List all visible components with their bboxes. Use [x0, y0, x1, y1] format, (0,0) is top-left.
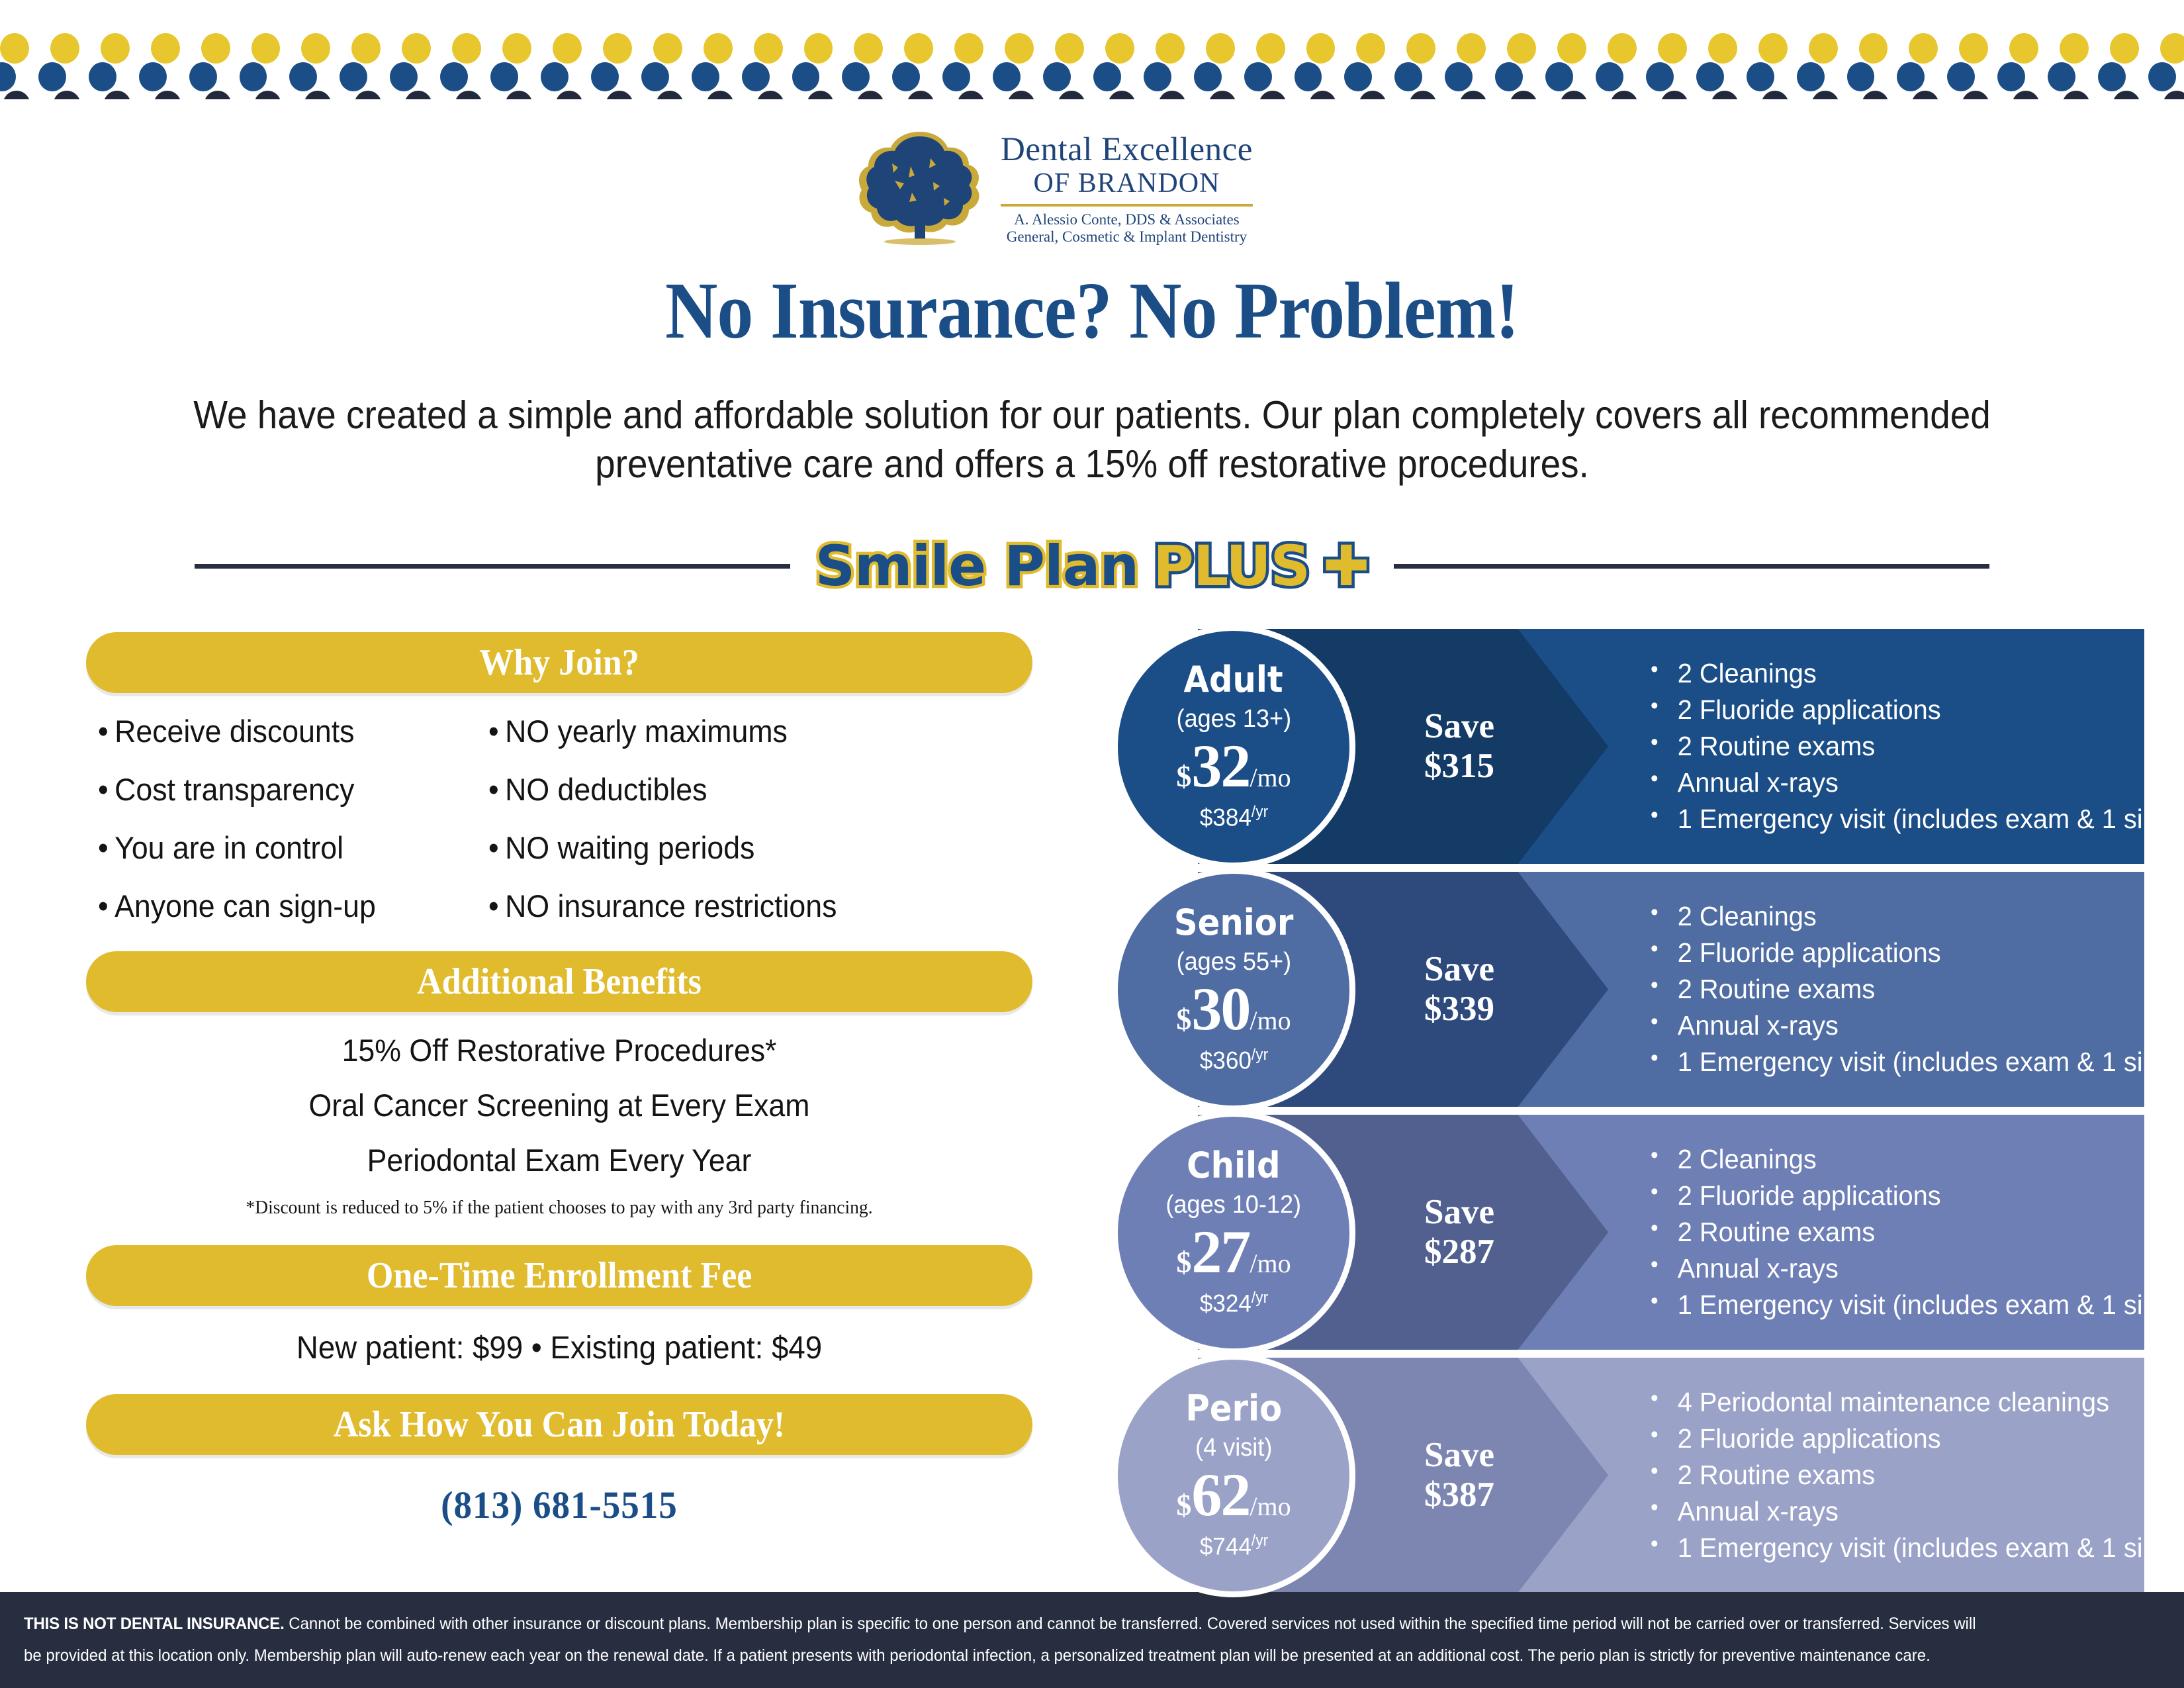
dot — [2009, 33, 2038, 64]
dot — [354, 91, 382, 99]
dot — [452, 33, 481, 64]
plan-benefits: 4 Periodontal maintenance cleanings2 Flu… — [1615, 1358, 2144, 1593]
dot — [1256, 33, 1285, 64]
dot — [505, 91, 533, 99]
dot — [742, 62, 770, 91]
dot — [1507, 33, 1536, 64]
logo-divider — [1001, 204, 1253, 207]
dot — [3, 91, 30, 99]
smile-plan-plus-logo: Smile Plan PLUS ✚ — [815, 538, 1369, 594]
benefit-item: 1 Emergency visit (includes exam & 1 sin… — [1651, 806, 2130, 833]
plan-price-circle: Perio(4 visit)$62/mo$744/yr — [1112, 1354, 1355, 1597]
list-item-label: NO waiting periods — [505, 830, 754, 865]
footer-line-1-rest: Cannot be combined with other insurance … — [285, 1615, 1976, 1633]
plan-benefits: 2 Cleanings2 Fluoride applications2 Rout… — [1615, 1115, 2144, 1350]
list-item: •Anyone can sign-up — [98, 890, 469, 921]
save-label: Save — [1424, 707, 1494, 746]
phone-number[interactable]: (813) 681-5515 — [110, 1483, 1009, 1527]
benefit-item: 2 Routine exams — [1651, 976, 2130, 1003]
benefit-item: 1 Emergency visit (includes exam & 1 sin… — [1651, 1291, 2130, 1319]
benefit-item: 1 Emergency visit (includes exam & 1 sin… — [1651, 1049, 2130, 1076]
enrollment-fee-title: One-Time Enrollment Fee — [367, 1254, 752, 1297]
rule-left — [195, 564, 790, 569]
currency-symbol: $ — [1176, 1247, 1191, 1278]
dot — [1510, 91, 1537, 99]
why-join-title: Why Join? — [479, 641, 639, 684]
bullet-icon: • — [98, 830, 109, 865]
save-amount: $339 — [1424, 990, 1494, 1029]
logo-line-2: OF BRANDON — [1034, 169, 1220, 197]
dot — [1259, 91, 1287, 99]
benefit-item: 2 Cleanings — [1651, 1146, 2130, 1173]
additional-benefits-header: Additional Benefits — [86, 951, 1032, 1012]
dot — [792, 62, 820, 91]
dot — [289, 62, 317, 91]
dot — [1495, 62, 1523, 91]
dot-row-blue — [0, 62, 2184, 93]
discount-footnote: *Discount is reduced to 5% if the patien… — [110, 1197, 1009, 1219]
save-amount: $315 — [1424, 747, 1494, 786]
dot — [892, 62, 920, 91]
benefit-item: 2 Routine exams — [1651, 1219, 2130, 1246]
dot — [2098, 62, 2126, 91]
dot — [1058, 91, 1085, 99]
dot — [1847, 62, 1875, 91]
dot — [502, 33, 531, 64]
dot — [1761, 91, 1789, 99]
yearly-unit: /yr — [1251, 1289, 1267, 1307]
plus-cross-icon: ✚ — [1323, 538, 1369, 594]
yearly-value: $384 — [1199, 804, 1251, 831]
plus-text: PLUS — [1153, 538, 1310, 594]
logo-line-1: Dental Excellence — [1001, 133, 1253, 167]
plan-yearly-price: $324/yr — [1199, 1289, 1268, 1317]
benefit-item: 2 Fluoride applications — [1651, 1182, 2130, 1209]
dot — [455, 91, 482, 99]
plan-name: Perio — [1185, 1391, 1282, 1427]
dot — [2048, 62, 2075, 91]
page-subtitle: We have created a simple and affordable … — [163, 391, 2022, 489]
dot — [1007, 91, 1035, 99]
dot — [404, 91, 432, 99]
plan-row-perio[interactable]: Save$387Perio(4 visit)$62/mo$744/yr4 Per… — [1112, 1358, 2144, 1593]
why-join-col-a: •Receive discounts •Cost transparency •Y… — [98, 716, 488, 949]
dot — [1457, 33, 1486, 64]
dot — [154, 91, 181, 99]
dot — [555, 91, 583, 99]
price-period: /mo — [1250, 1008, 1291, 1034]
dot — [103, 91, 131, 99]
dot — [1158, 91, 1186, 99]
dot — [1409, 91, 1437, 99]
dot — [1758, 33, 1788, 64]
save-label: Save — [1424, 1436, 1494, 1475]
why-join-header: Why Join? — [86, 632, 1032, 693]
dot — [1043, 62, 1071, 91]
dot — [1809, 33, 1838, 64]
bullet-icon: • — [488, 714, 499, 749]
price-value: 62 — [1191, 1464, 1250, 1525]
dot — [1560, 91, 1588, 99]
list-item-label: NO deductibles — [505, 772, 707, 807]
dot — [139, 62, 167, 91]
list-item-label: NO yearly maximums — [505, 714, 788, 749]
dot — [1658, 33, 1687, 64]
currency-symbol: $ — [1176, 761, 1191, 792]
plan-ages: (ages 55+) — [1176, 949, 1291, 974]
plan-row-adult[interactable]: Save$315Adult(ages 13+)$32/mo$384/yr2 Cl… — [1112, 629, 2144, 864]
list-item: •You are in control — [98, 832, 469, 863]
plan-monthly-price: $62/mo — [1176, 1464, 1291, 1525]
price-value: 27 — [1191, 1221, 1250, 1282]
price-period: /mo — [1250, 1250, 1291, 1277]
dot — [251, 33, 281, 64]
smile-plan-logo-band: Smile Plan PLUS ✚ — [0, 530, 2184, 602]
dot — [1344, 62, 1372, 91]
why-join-list: •Receive discounts •Cost transparency •Y… — [86, 716, 1032, 949]
dot — [402, 33, 431, 64]
dot — [1708, 33, 1737, 64]
practice-logo: Dental Excellence OF BRANDON A. Alessio … — [854, 126, 1330, 252]
cta-label: Ask How You Can Join Today! — [334, 1403, 786, 1446]
dot — [101, 33, 130, 64]
dot — [1909, 33, 1938, 64]
dot — [1557, 33, 1586, 64]
plan-ages: (4 visit) — [1195, 1435, 1272, 1460]
dot — [390, 62, 418, 91]
plan-savings: Save$339 — [1317, 872, 1602, 1107]
dot-row-gold — [0, 33, 2184, 64]
plan-name: Senior — [1174, 905, 1294, 941]
yearly-unit: /yr — [1251, 803, 1267, 821]
dot — [1661, 91, 1688, 99]
dot — [706, 91, 734, 99]
dot — [1055, 33, 1084, 64]
price-period: /mo — [1250, 1493, 1291, 1520]
dot — [440, 62, 468, 91]
yearly-value: $744 — [1199, 1532, 1251, 1560]
yearly-unit: /yr — [1251, 1532, 1267, 1550]
dot — [1356, 33, 1385, 64]
currency-symbol: $ — [1176, 1004, 1191, 1035]
dot — [856, 91, 884, 99]
dot — [1144, 62, 1171, 91]
dot — [1959, 33, 1988, 64]
oak-tree-icon — [854, 129, 986, 248]
list-item: •NO deductibles — [488, 774, 994, 805]
list-item-label: Anyone can sign-up — [114, 888, 376, 923]
dot — [1862, 91, 1889, 99]
list-item: •NO waiting periods — [488, 832, 994, 863]
dot — [1295, 62, 1322, 91]
benefit-item: 2 Fluoride applications — [1651, 1425, 2130, 1452]
bullet-icon: • — [488, 830, 499, 865]
dot — [1811, 91, 1839, 99]
benefit-item: Annual x-rays — [1651, 1498, 2130, 1525]
enrollment-fee-values: New patient: $99 • Existing patient: $49 — [110, 1330, 1009, 1366]
dot — [2163, 91, 2184, 99]
plan-row-senior[interactable]: Save$339Senior(ages 55+)$30/mo$360/yr2 C… — [1112, 872, 2144, 1107]
benefit-item: Annual x-rays — [1651, 1012, 2130, 1039]
list-item-label: Cost transparency — [114, 772, 354, 807]
save-amount: $387 — [1424, 1476, 1494, 1515]
benefit-item: 2 Fluoride applications — [1651, 696, 2130, 724]
footer-line-2: be provided at this location only. Membe… — [24, 1640, 2075, 1672]
dot — [1610, 91, 1638, 99]
list-item: 15% Off Restorative Procedures* — [110, 1032, 1009, 1068]
dot — [1696, 62, 1724, 91]
dot — [2148, 62, 2176, 91]
dot — [89, 62, 116, 91]
dot — [0, 33, 29, 64]
dot — [656, 91, 684, 99]
dot — [189, 62, 217, 91]
plan-ages: (ages 10-12) — [1166, 1192, 1302, 1217]
plan-monthly-price: $30/mo — [1176, 978, 1291, 1039]
price-value: 32 — [1191, 735, 1250, 796]
bullet-icon: • — [98, 772, 109, 807]
dot-row-dark — [3, 91, 2184, 99]
plan-price-circle: Adult(ages 13+)$32/mo$384/yr — [1112, 625, 1355, 868]
save-amount: $287 — [1424, 1233, 1494, 1272]
benefit-item: 2 Cleanings — [1651, 660, 2130, 687]
dot — [606, 91, 633, 99]
dot — [907, 91, 934, 99]
dot — [340, 62, 367, 91]
dot — [2160, 33, 2184, 64]
dot — [1646, 62, 1674, 91]
plan-savings: Save$287 — [1317, 1115, 1602, 1350]
footer-line-1: THIS IS NOT DENTAL INSURANCE. Cannot be … — [24, 1609, 2075, 1640]
dot — [692, 62, 719, 91]
benefit-item: 2 Routine exams — [1651, 733, 2130, 760]
page-title: No Insurance? No Problem! — [109, 265, 2075, 357]
plan-benefits: 2 Cleanings2 Fluoride applications2 Rout… — [1615, 629, 2144, 864]
logo-line-3: A. Alessio Conte, DDS & Associates — [1014, 212, 1240, 227]
dot — [1359, 91, 1387, 99]
dot — [1962, 91, 1989, 99]
bullet-icon: • — [98, 714, 109, 749]
why-join-col-b: •NO yearly maximums •NO deductibles •NO … — [488, 716, 1021, 949]
list-item: •Receive discounts — [98, 716, 469, 747]
plan-name: Child — [1187, 1148, 1280, 1184]
dot — [842, 62, 870, 91]
dot — [653, 33, 682, 64]
dot — [1947, 62, 1975, 91]
list-item: •NO insurance restrictions — [488, 890, 994, 921]
list-item-label: NO insurance restrictions — [505, 888, 837, 923]
dot — [1156, 33, 1185, 64]
list-item-label: You are in control — [114, 830, 343, 865]
dot — [954, 33, 983, 64]
list-item: •NO yearly maximums — [488, 716, 994, 747]
dot — [351, 33, 381, 64]
left-column: Why Join? •Receive discounts •Cost trans… — [86, 632, 1032, 1527]
dot — [1244, 62, 1272, 91]
dot — [490, 62, 518, 91]
plan-benefits: 2 Cleanings2 Fluoride applications2 Rout… — [1615, 872, 2144, 1107]
currency-symbol: $ — [1176, 1490, 1191, 1521]
price-period: /mo — [1250, 765, 1291, 791]
yearly-value: $360 — [1199, 1047, 1251, 1074]
legal-footer: THIS IS NOT DENTAL INSURANCE. Cannot be … — [0, 1592, 2184, 1688]
benefit-item: 2 Fluoride applications — [1651, 939, 2130, 966]
dot — [1206, 33, 1235, 64]
dot — [1309, 91, 1337, 99]
benefit-item: 4 Periodontal maintenance cleanings — [1651, 1389, 2130, 1416]
dot — [1596, 62, 1623, 91]
benefit-item: 2 Routine exams — [1651, 1462, 2130, 1489]
dot — [1911, 91, 1939, 99]
bullet-icon: • — [488, 772, 499, 807]
price-value: 30 — [1191, 978, 1250, 1039]
dot — [2060, 33, 2089, 64]
dot — [50, 33, 79, 64]
plan-ages: (ages 13+) — [1176, 706, 1291, 731]
dot — [201, 33, 230, 64]
logo-line-4: General, Cosmetic & Implant Dentistry — [1007, 229, 1247, 244]
list-item: Oral Cancer Screening at Every Exam — [110, 1087, 1009, 1123]
decorative-dot-band — [0, 0, 2184, 99]
dot — [1108, 91, 1136, 99]
dot — [603, 33, 632, 64]
additional-benefits-list: 15% Off Restorative Procedures* Oral Can… — [86, 1032, 1032, 1178]
dot — [2113, 91, 2140, 99]
save-label: Save — [1424, 1193, 1494, 1232]
dot — [1608, 33, 1637, 64]
bullet-icon: • — [98, 888, 109, 923]
dot — [904, 33, 933, 64]
dot — [2110, 33, 2139, 64]
dot — [993, 62, 1021, 91]
dot — [1394, 62, 1422, 91]
dot — [1105, 33, 1134, 64]
dot — [591, 62, 619, 91]
dot — [807, 91, 835, 99]
dot — [854, 33, 883, 64]
dot — [553, 33, 582, 64]
dot — [756, 91, 784, 99]
plan-yearly-price: $744/yr — [1199, 1532, 1268, 1560]
dot — [1459, 91, 1487, 99]
dot — [1306, 33, 1336, 64]
dot — [1797, 62, 1825, 91]
dot — [301, 33, 330, 64]
dot — [53, 91, 81, 99]
dot — [957, 91, 985, 99]
footer-bold-lead: THIS IS NOT DENTAL INSURANCE. — [24, 1615, 285, 1633]
dot — [541, 62, 569, 91]
plan-monthly-price: $32/mo — [1176, 735, 1291, 796]
benefit-item: 2 Cleanings — [1651, 903, 2130, 930]
dot — [1859, 33, 1888, 64]
dot — [240, 62, 267, 91]
list-item: •Cost transparency — [98, 774, 469, 805]
dot — [1406, 33, 1435, 64]
dot — [804, 33, 833, 64]
plan-yearly-price: $384/yr — [1199, 803, 1268, 831]
benefit-item: Annual x-rays — [1651, 1255, 2130, 1282]
dot — [1445, 62, 1473, 91]
dot — [1997, 62, 2025, 91]
dot — [1208, 91, 1236, 99]
dot — [641, 62, 669, 91]
additional-benefits-title: Additional Benefits — [417, 961, 702, 1003]
plan-price-circle: Senior(ages 55+)$30/mo$360/yr — [1112, 868, 1355, 1111]
benefit-item: 1 Emergency visit (includes exam & 1 sin… — [1651, 1534, 2130, 1562]
list-item-label: Receive discounts — [114, 714, 354, 749]
dot — [38, 62, 66, 91]
dot — [1711, 91, 1739, 99]
bullet-icon: • — [488, 888, 499, 923]
plan-row-child[interactable]: Save$287Child(ages 10-12)$27/mo$324/yr2 … — [1112, 1115, 2144, 1350]
plan-savings: Save$387 — [1317, 1358, 1602, 1593]
dot — [2062, 91, 2090, 99]
dot — [1545, 62, 1573, 91]
dot — [204, 91, 232, 99]
plan-price-circle: Child(ages 10-12)$27/mo$324/yr — [1112, 1111, 1355, 1354]
dot — [942, 62, 970, 91]
benefit-item: Annual x-rays — [1651, 769, 2130, 796]
smile-plan-text: Smile Plan — [815, 538, 1139, 594]
plan-name: Adult — [1184, 662, 1283, 698]
yearly-unit: /yr — [1251, 1046, 1267, 1064]
cta-banner[interactable]: Ask How You Can Join Today! — [86, 1394, 1032, 1455]
plan-savings: Save$315 — [1317, 629, 1602, 864]
rule-right — [1394, 564, 1989, 569]
save-label: Save — [1424, 950, 1494, 989]
dot — [254, 91, 282, 99]
dot — [2012, 91, 2040, 99]
dot — [0, 62, 16, 91]
dot — [1005, 33, 1034, 64]
dot — [1897, 62, 1925, 91]
dot — [1093, 62, 1121, 91]
dot — [704, 33, 733, 64]
plans-column: Save$315Adult(ages 13+)$32/mo$384/yr2 Cl… — [1112, 629, 2144, 1601]
dot — [1194, 62, 1222, 91]
dot — [1747, 62, 1774, 91]
yearly-value: $324 — [1199, 1289, 1251, 1317]
plan-monthly-price: $27/mo — [1176, 1221, 1291, 1282]
dot — [151, 33, 180, 64]
dot — [304, 91, 332, 99]
dot — [754, 33, 783, 64]
plan-yearly-price: $360/yr — [1199, 1046, 1268, 1074]
list-item: Periodontal Exam Every Year — [110, 1142, 1009, 1178]
enrollment-fee-header: One-Time Enrollment Fee — [86, 1245, 1032, 1306]
